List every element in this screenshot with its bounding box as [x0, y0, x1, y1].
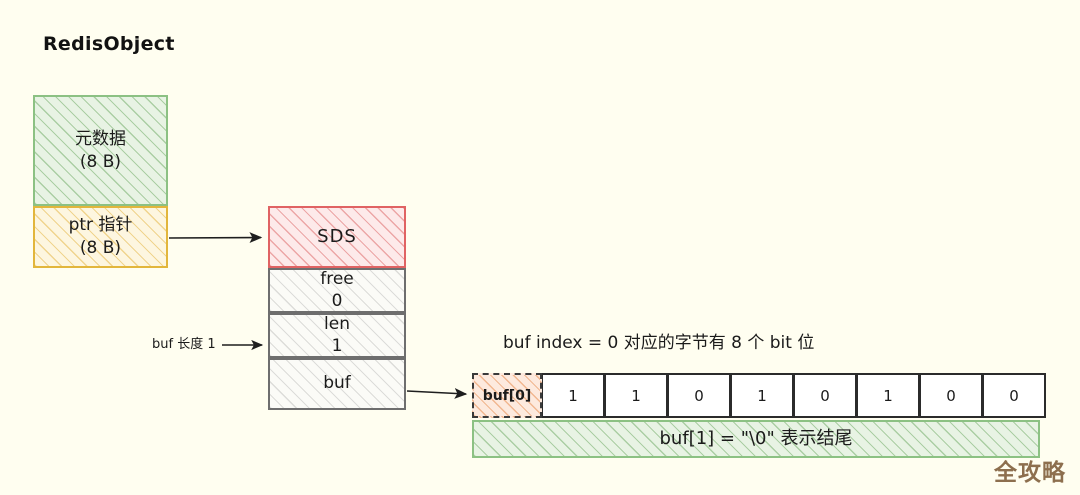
arrow-ptr-to-sds: [169, 238, 261, 239]
bit-cell: 0: [794, 373, 857, 418]
bit-cell: 0: [920, 373, 983, 418]
bit-value: 1: [757, 387, 767, 405]
bit-value: 1: [883, 387, 893, 405]
metadata-size: (8 B): [80, 151, 121, 174]
diagram-canvas: RedisObject 元数据 (8 B) ptr 指针 (8 B) SDS f…: [0, 0, 1080, 495]
bit-array: buf[0] 1 1 0 1 0 1 0 0: [472, 373, 1046, 418]
sds-len-value: 1: [332, 336, 343, 357]
bit-value: 0: [820, 387, 830, 405]
bit-value: 1: [568, 387, 578, 405]
sds-free-cell: free 0: [268, 268, 406, 313]
sds-buf-cell: buf: [268, 358, 406, 410]
bit-cell: 1: [731, 373, 794, 418]
bit-value: 0: [694, 387, 704, 405]
bit-value: 0: [946, 387, 956, 405]
bit-cell: 1: [857, 373, 920, 418]
sds-free-value: 0: [332, 291, 343, 312]
sds-len-cell: len 1: [268, 313, 406, 358]
watermark: 全攻略: [994, 453, 1066, 487]
bit-value: 0: [1009, 387, 1019, 405]
bit-cell: 0: [668, 373, 731, 418]
ptr-label: ptr 指针: [69, 214, 133, 237]
metadata-label: 元数据: [75, 128, 126, 151]
sds-header-label: SDS: [317, 225, 357, 249]
buf0-index-cell: buf[0]: [472, 373, 542, 418]
sds-len-name: len: [324, 314, 350, 335]
sds-buf-label: buf: [323, 373, 351, 394]
bit-value: 1: [631, 387, 641, 405]
redisobject-metadata-cell: 元数据 (8 B): [33, 95, 168, 206]
sds-header-cell: SDS: [268, 206, 406, 268]
buf-length-label: buf 长度 1: [152, 333, 216, 352]
bit-cell: 0: [983, 373, 1046, 418]
page-title: RedisObject: [43, 33, 175, 55]
bit-cell: 1: [542, 373, 605, 418]
bit-caption-label: buf index = 0 对应的字节有 8 个 bit 位: [503, 328, 814, 353]
arrow-buf-to-bitarray: [407, 391, 466, 394]
redisobject-ptr-cell: ptr 指针 (8 B): [33, 206, 168, 268]
bit-cell: 1: [605, 373, 668, 418]
ptr-size: (8 B): [80, 237, 121, 260]
buf1-terminator-bar: buf[1] = "\0" 表示结尾: [472, 420, 1040, 458]
buf0-index-label: buf[0]: [483, 388, 532, 404]
buf1-terminator-label: buf[1] = "\0" 表示结尾: [660, 427, 853, 451]
sds-free-name: free: [320, 269, 354, 290]
